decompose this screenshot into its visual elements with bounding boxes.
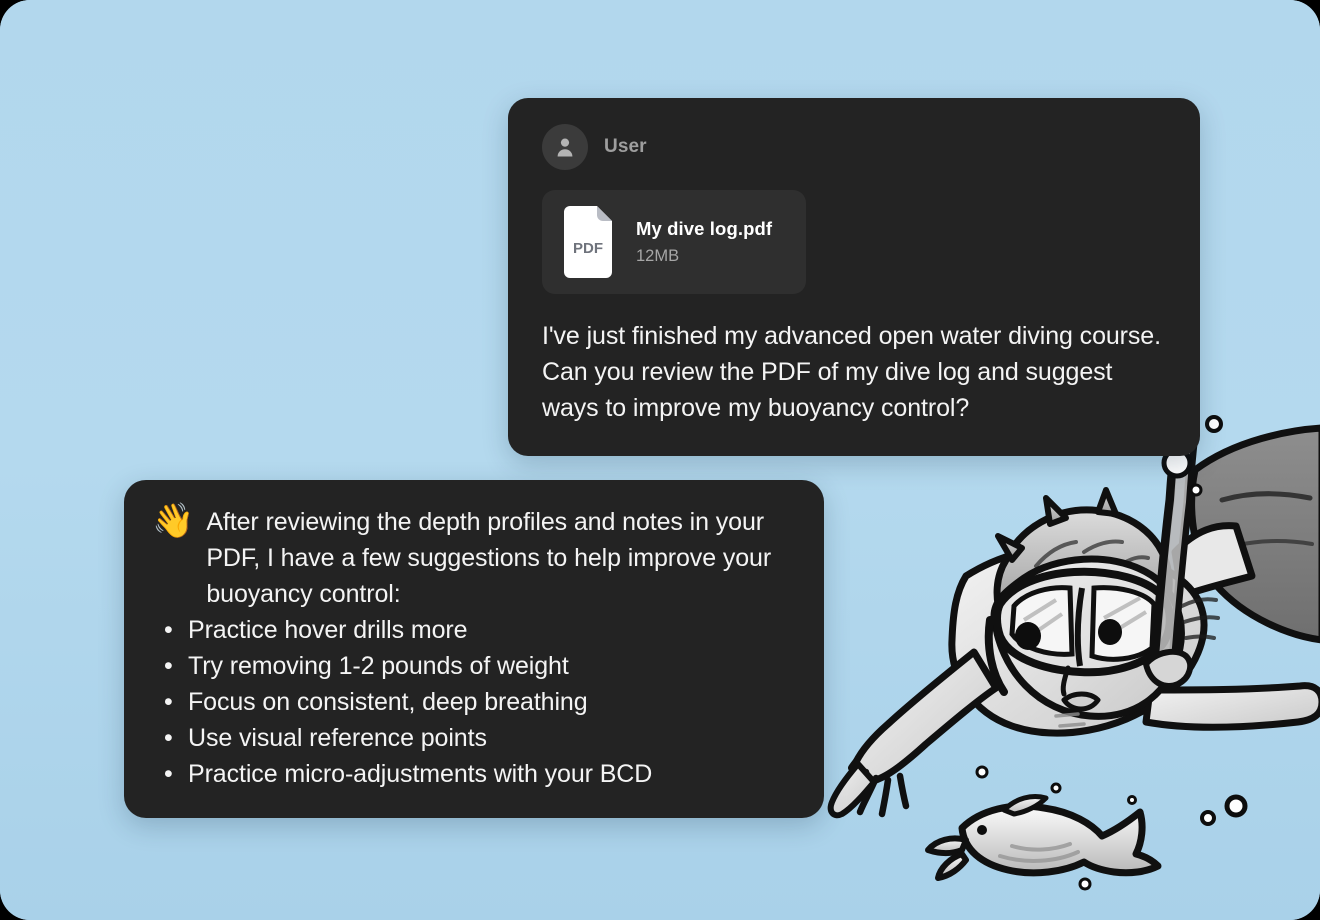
user-message-header: User xyxy=(542,124,1166,170)
user-message-bubble: User PDF My dive log.pdf 12MB I've just … xyxy=(508,98,1200,456)
fish-illustration xyxy=(928,797,1158,879)
attachment-file-name: My dive log.pdf xyxy=(636,218,772,240)
attachment-file-size: 12MB xyxy=(636,247,772,266)
user-message-text: I've just finished my advanced open wate… xyxy=(542,318,1166,426)
pdf-attachment-card[interactable]: PDF My dive log.pdf 12MB xyxy=(542,190,806,294)
suggestion-item: Try removing 1-2 pounds of weight xyxy=(152,648,794,684)
user-role-label: User xyxy=(604,136,647,158)
pdf-file-icon: PDF xyxy=(560,206,616,278)
diver-figure xyxy=(831,428,1320,816)
person-avatar-icon xyxy=(542,124,588,170)
suggestion-item: Focus on consistent, deep breathing xyxy=(152,684,794,720)
assistant-intro-text: After reviewing the depth profiles and n… xyxy=(206,504,794,612)
suggestion-item: Practice hover drills more xyxy=(152,612,794,648)
svg-text:PDF: PDF xyxy=(573,240,603,257)
air-bubbles xyxy=(977,392,1245,890)
suggestion-item: Use visual reference points xyxy=(152,720,794,756)
assistant-message-bubble: 👋 After reviewing the depth profiles and… xyxy=(124,480,824,818)
chat-canvas: User PDF My dive log.pdf 12MB I've just … xyxy=(0,0,1320,920)
waving-hand-emoji: 👋 xyxy=(152,503,194,539)
suggestion-item: Practice micro-adjustments with your BCD xyxy=(152,756,794,792)
assistant-intro-row: 👋 After reviewing the depth profiles and… xyxy=(152,504,794,612)
suggestion-list: Practice hover drills moreTry removing 1… xyxy=(152,612,794,792)
